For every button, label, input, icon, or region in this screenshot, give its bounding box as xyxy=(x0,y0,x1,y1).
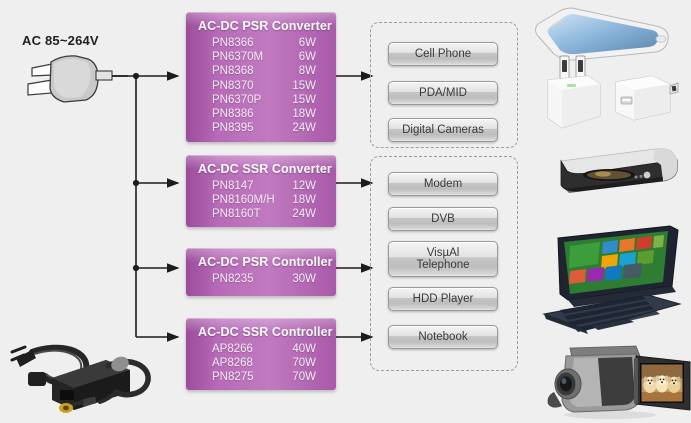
product-row: PN8160T 24W xyxy=(198,207,324,221)
diagram-canvas: AC 85~264V AC- xyxy=(0,0,691,423)
part-power: 70W xyxy=(292,356,316,370)
product-row: PN8275 70W xyxy=(198,370,324,384)
part-power: 12W xyxy=(292,179,316,193)
part-power: 6W xyxy=(299,50,316,64)
product-box-title: AC-DC SSR Controller xyxy=(198,325,324,339)
product-row: AP8266 40W xyxy=(198,342,324,356)
part-power: 18W xyxy=(292,193,316,207)
product-row: PN8235 30W xyxy=(198,272,324,286)
product-row: PN8370 15W xyxy=(198,79,324,93)
product-row: PN6370P 15W xyxy=(198,93,324,107)
part-power: 70W xyxy=(292,370,316,384)
part-power: 15W xyxy=(292,79,316,93)
product-box-psr-controller[interactable]: AC-DC PSR Controller PN8235 30W xyxy=(186,248,336,296)
app-button-notebook[interactable]: Notebook xyxy=(388,325,498,349)
app-button-digital-cameras[interactable]: Digital Cameras xyxy=(388,118,498,142)
part-number: PN6370M xyxy=(212,50,263,64)
part-number: PN8395 xyxy=(212,121,254,135)
part-number: AP8268 xyxy=(212,356,253,370)
smartphone-photo xyxy=(530,2,680,72)
part-number: PN8160M/H xyxy=(212,193,275,207)
part-power: 8W xyxy=(299,64,316,78)
part-power: 24W xyxy=(292,207,316,221)
product-box-title: AC-DC SSR Converter xyxy=(198,162,324,176)
part-power: 15W xyxy=(292,93,316,107)
product-row: PN8368 8W xyxy=(198,64,324,78)
laptop-power-adapter-icon xyxy=(8,330,173,420)
set-top-box-photo xyxy=(543,143,683,199)
part-number: PN8235 xyxy=(212,272,254,286)
part-number: PN6370P xyxy=(212,93,261,107)
part-power: 30W xyxy=(292,272,316,286)
product-row: PN8395 24W xyxy=(198,121,324,135)
part-power: 40W xyxy=(292,342,316,356)
part-number: PN8366 xyxy=(212,36,254,50)
part-number: PN8370 xyxy=(212,79,254,93)
app-button-dvb[interactable]: DVB xyxy=(388,207,498,231)
product-box-ssr-converter[interactable]: AC-DC SSR Converter PN8147 12W PN8160M/H… xyxy=(186,155,336,227)
app-button-hdd-player[interactable]: HDD Player xyxy=(388,287,498,311)
part-number: PN8386 xyxy=(212,107,254,121)
app-button-visual-telephone[interactable]: VisµAl Telephone xyxy=(388,241,498,277)
part-number: PN8160T xyxy=(212,207,261,221)
product-row: PN8147 12W xyxy=(198,179,324,193)
product-box-title: AC-DC PSR Controller xyxy=(198,255,324,269)
product-row: AP8268 70W xyxy=(198,356,324,370)
tablet-laptop-photo xyxy=(530,222,685,352)
product-row: PN8386 18W xyxy=(198,107,324,121)
ac-input-label: AC 85~264V xyxy=(22,33,99,48)
app-button-modem[interactable]: Modem xyxy=(388,172,498,196)
product-row: PN8366 6W xyxy=(198,36,324,50)
ac-wall-plug-icon xyxy=(18,50,128,110)
usb-charger-b-photo xyxy=(612,72,682,124)
camcorder-photo xyxy=(540,340,691,420)
part-number: PN8275 xyxy=(212,370,254,384)
product-box-title: AC-DC PSR Converter xyxy=(198,19,324,33)
part-power: 6W xyxy=(299,36,316,50)
part-number: AP8266 xyxy=(212,342,253,356)
app-button-visual-telephone-line2: Telephone xyxy=(416,259,469,272)
part-number: PN8368 xyxy=(212,64,254,78)
part-number: PN8147 xyxy=(212,179,254,193)
product-box-psr-converter[interactable]: AC-DC PSR Converter PN8366 6W PN6370M 6W… xyxy=(186,12,336,142)
connector-lines xyxy=(0,0,691,423)
product-row: PN8160M/H 18W xyxy=(198,193,324,207)
app-button-cell-phone[interactable]: Cell Phone xyxy=(388,42,498,66)
product-row: PN6370M 6W xyxy=(198,50,324,64)
part-power: 24W xyxy=(292,121,316,135)
app-button-visual-telephone-line1: VisµAl xyxy=(427,247,460,260)
usb-charger-a-photo xyxy=(540,52,606,134)
part-power: 18W xyxy=(292,107,316,121)
app-button-pda-mid[interactable]: PDA/MID xyxy=(388,81,498,105)
product-box-ssr-controller[interactable]: AC-DC SSR Controller AP8266 40W AP8268 7… xyxy=(186,318,336,390)
